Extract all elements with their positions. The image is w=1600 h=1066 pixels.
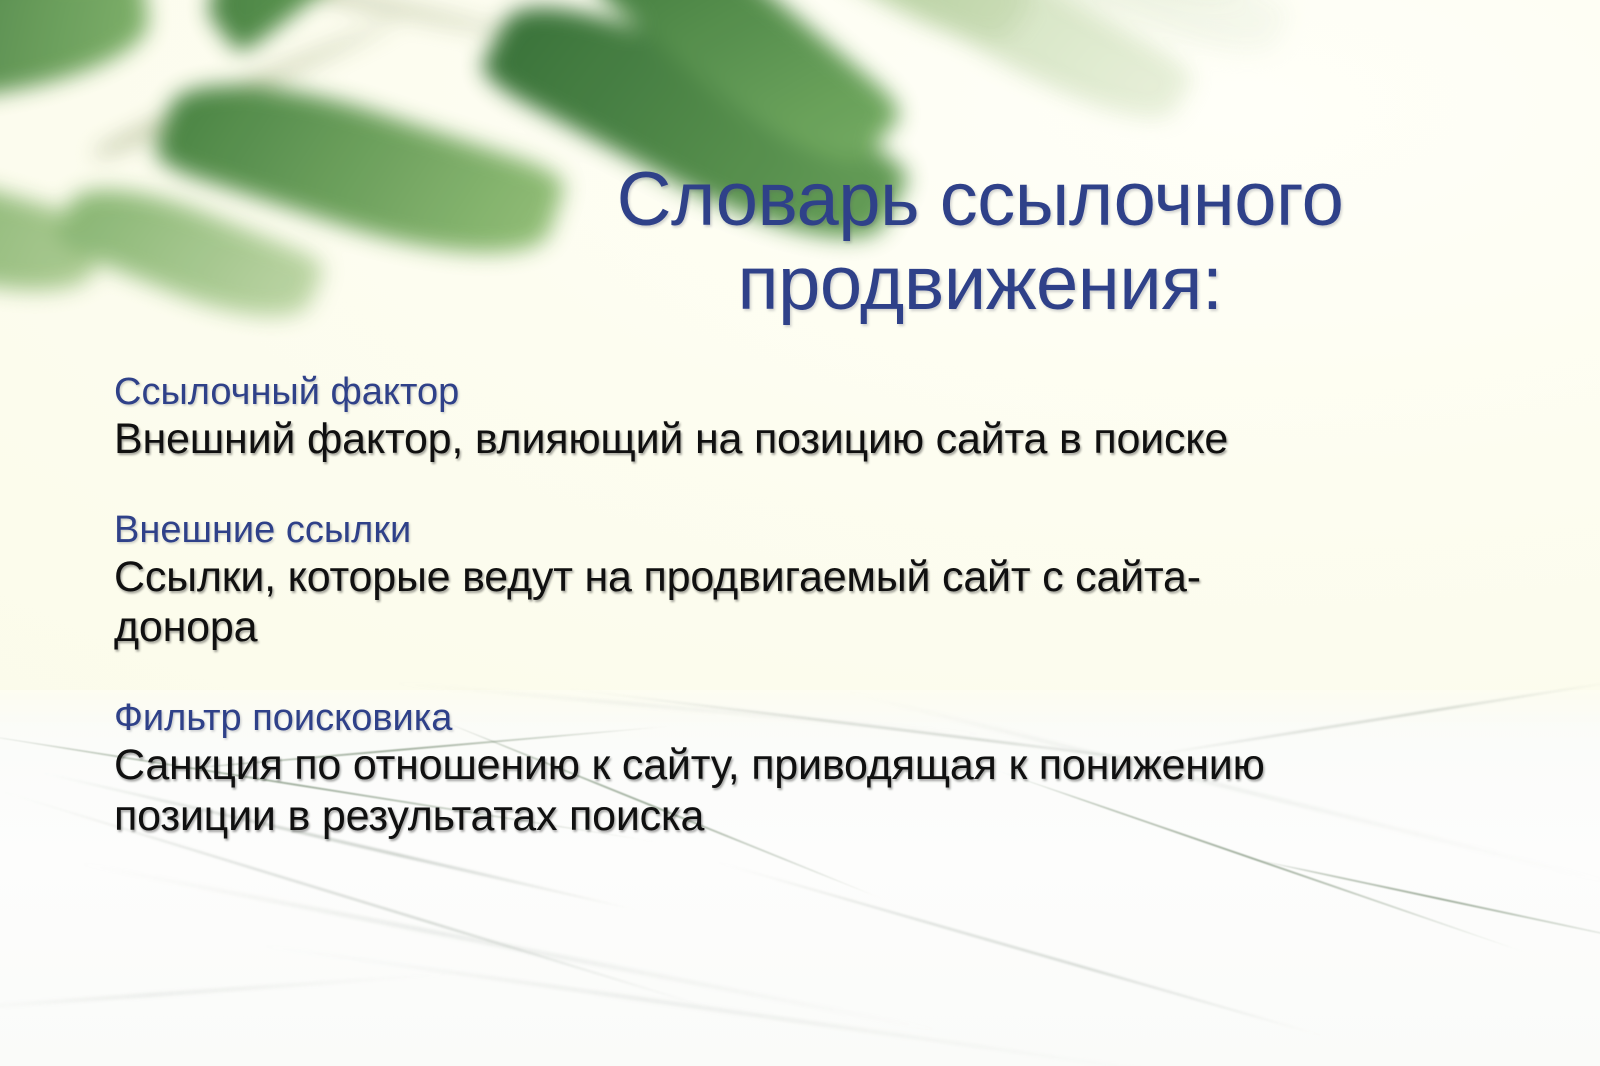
glossary-entry: Фильтр поисковика Санкция по отношению к… — [114, 697, 1454, 841]
glossary-term: Фильтр поисковика — [114, 697, 1454, 740]
glossary-definition: Внешний фактор, влияющий на позицию сайт… — [114, 414, 1454, 465]
glossary-definition: Ссылки, которые ведут на продвигаемый са… — [114, 552, 1454, 653]
glossary-definition: Санкция по отношению к сайту, приводящая… — [114, 740, 1454, 841]
glossary-entry: Ссылочный фактор Внешний фактор, влияющи… — [114, 371, 1454, 465]
slide-title: Словарь ссылочного продвижения: — [520, 158, 1440, 325]
glossary-list: Ссылочный фактор Внешний фактор, влияющи… — [114, 371, 1454, 841]
glossary-term: Внешние ссылки — [114, 509, 1454, 552]
glossary-term: Ссылочный фактор — [114, 371, 1454, 414]
presentation-slide: Словарь ссылочного продвижения: Ссылочны… — [0, 0, 1600, 1066]
glossary-entry: Внешние ссылки Ссылки, которые ведут на … — [114, 509, 1454, 653]
